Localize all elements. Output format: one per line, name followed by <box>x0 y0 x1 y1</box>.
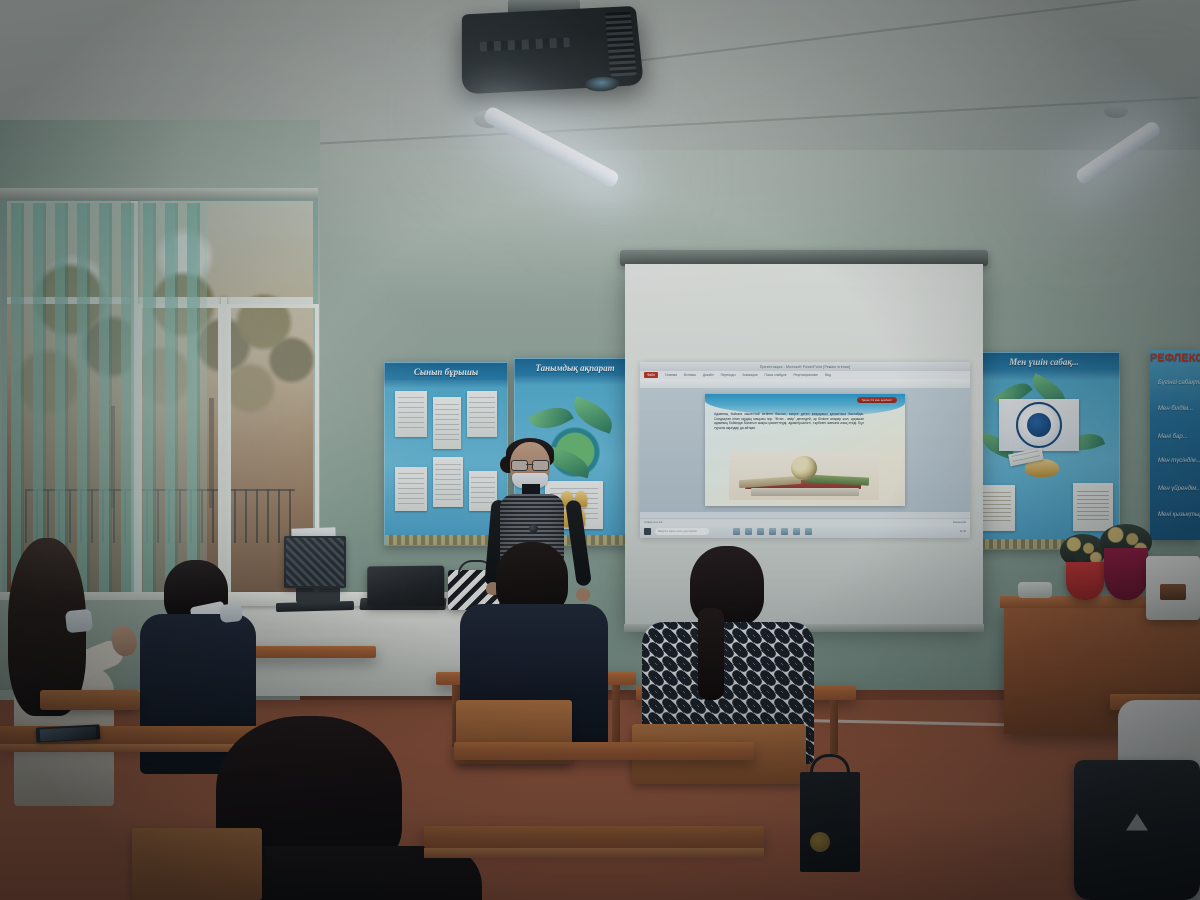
reflection-title: РЕФЛЕКСИЯ <box>1150 352 1200 364</box>
laptop-logo-icon: . <box>404 583 406 588</box>
slide-image-books-globe <box>729 452 879 500</box>
glasses-icon <box>511 460 549 469</box>
backpack-logo-icon <box>1126 813 1148 830</box>
chair-back[interactable] <box>40 690 140 710</box>
slide-subject-badge: Қазақ тілі мен әдебиеті <box>857 397 897 403</box>
chair-back[interactable] <box>132 828 262 900</box>
pinned-paper <box>395 467 427 511</box>
paper-tray[interactable] <box>284 536 346 588</box>
tote-bag[interactable] <box>800 772 860 872</box>
ribbon-tab-design[interactable]: Дизайн <box>703 373 714 377</box>
status-slide-count: Слайд 4 из 12 <box>644 520 662 524</box>
pinned-paper <box>467 391 497 437</box>
board-title-text: Сынып бұрышы <box>414 367 478 377</box>
board-title-text: Танымдық ақпарат <box>535 363 614 373</box>
start-button-icon[interactable] <box>644 528 651 535</box>
desk-leg <box>830 700 838 754</box>
ribbon-tab-transitions[interactable]: Переходы <box>721 373 736 377</box>
board-title: Сынып бұрышы <box>385 363 507 380</box>
projected-app-window: Презентация - Microsoft PowerPoint [Режи… <box>640 362 970 538</box>
app-title: Презентация - Microsoft PowerPoint [Режи… <box>760 365 850 369</box>
ribbon-tab-animation[interactable]: Анимация <box>743 373 758 377</box>
school-emblem-icon <box>1016 402 1062 448</box>
emblem-card <box>999 399 1079 451</box>
taskbar-search-input[interactable]: Введите здесь текст для поиска <box>655 528 709 535</box>
desk <box>236 646 376 658</box>
taskbar-tray[interactable]: 11:42 <box>960 530 966 533</box>
ribbon-tab-insert[interactable]: Вставка <box>684 373 696 377</box>
slide-body-text: Адамның бойына кiшкентай кезiнен бастап,… <box>714 412 864 431</box>
board-lesson-for-me: Мен үшін сабақ... <box>968 352 1120 550</box>
projector-ports <box>480 37 570 51</box>
cabinet-item <box>1018 582 1052 598</box>
pinned-paper <box>433 457 463 507</box>
backpack-floor[interactable] <box>1074 760 1200 900</box>
taskbar-icon-word[interactable] <box>781 528 788 535</box>
taskbar-icon-player[interactable] <box>793 528 800 535</box>
projector-vent-icon <box>605 12 637 77</box>
taskbar-icon-explorer[interactable] <box>733 528 740 535</box>
ceiling-projector <box>462 6 644 95</box>
flower-bouquet-magenta <box>1104 548 1148 600</box>
taskbar-icon-powerpoint[interactable] <box>769 528 776 535</box>
ribbon-tab-view[interactable]: Вид <box>825 373 831 377</box>
taskbar-icon-mail[interactable] <box>757 528 764 535</box>
ribbon-tab-slideshow[interactable]: Показ слайдов <box>764 373 786 377</box>
reflection-line: Бүгінгі сабақта... <box>1158 380 1200 386</box>
reflection-line: Мен үйрендім... <box>1158 486 1200 492</box>
ribbon-tab-strip[interactable]: Файл Главная Вставка Дизайн Переходы Ани… <box>640 371 970 379</box>
light-cap <box>1104 104 1128 118</box>
glasses-lens-right <box>532 460 549 471</box>
classroom-photo: Сынып бұрышы Танымдық ақпарат Мен үшін с… <box>0 0 1200 900</box>
board-title-text: Мен үшін сабақ... <box>1009 357 1078 367</box>
flower-bouquet-red <box>1066 562 1104 600</box>
os-taskbar[interactable]: Введите здесь текст для поиска 11:42 <box>640 524 970 538</box>
reflection-line: Мәні бар... <box>1158 434 1188 440</box>
globe-icon <box>791 456 817 480</box>
ribbon-tab-home[interactable]: Главная <box>665 373 677 377</box>
board-title: Танымдық ақпарат <box>515 359 635 376</box>
ribbon-tab-file[interactable]: Файл <box>644 372 658 378</box>
status-language: Казахский <box>953 520 966 524</box>
search-placeholder-text: Введите здесь текст для поиска <box>658 530 697 533</box>
board-title: Мен үшін сабақ... <box>969 353 1119 370</box>
face-mask-icon <box>219 603 243 623</box>
slide-badge-text: Қазақ тілі мен әдебиеті <box>862 398 892 402</box>
ribbon-tab-review[interactable]: Рецензирование <box>793 373 818 377</box>
slide-canvas: Қазақ тілі мен әдебиеті Адамның бойына к… <box>640 388 970 512</box>
board-reflection: РЕФЛЕКСИЯ Бүгінгі сабақта... Мен білдім.… <box>1150 350 1200 540</box>
reflection-line: Мен түсіндім... <box>1158 458 1200 464</box>
brooch-icon <box>529 524 538 533</box>
water-cooler-tap[interactable] <box>1160 584 1186 600</box>
emblem-inner <box>1027 413 1051 437</box>
face-mask-icon <box>65 609 93 634</box>
desk-edge <box>424 848 764 858</box>
tote-badge-icon <box>810 832 830 852</box>
laptop[interactable]: . <box>367 566 444 607</box>
taskbar-app-icons[interactable] <box>733 528 812 535</box>
taskbar-clock: 11:42 <box>960 530 966 533</box>
desk-leg <box>612 685 620 743</box>
student-girl-window <box>8 538 138 808</box>
desk <box>454 742 754 760</box>
student-ponytail-front <box>698 608 724 700</box>
reflection-line: Мен білдім... <box>1158 406 1193 412</box>
glasses-lens-left <box>511 460 528 471</box>
taskbar-icon-folder[interactable] <box>805 528 812 535</box>
app-titlebar: Презентация - Microsoft PowerPoint [Режи… <box>640 362 970 371</box>
pinned-paper <box>395 391 427 437</box>
presentation-slide: Қазақ тілі мен әдебиеті Адамның бойына к… <box>705 394 905 506</box>
taskbar-icon-browser[interactable] <box>745 528 752 535</box>
pinned-paper <box>433 397 461 449</box>
reflection-line: Мені қызықтырды... <box>1158 512 1200 518</box>
info-card <box>1073 483 1113 531</box>
desk <box>424 826 764 848</box>
blinds-rail[interactable] <box>0 188 318 200</box>
book-icon <box>751 488 859 496</box>
